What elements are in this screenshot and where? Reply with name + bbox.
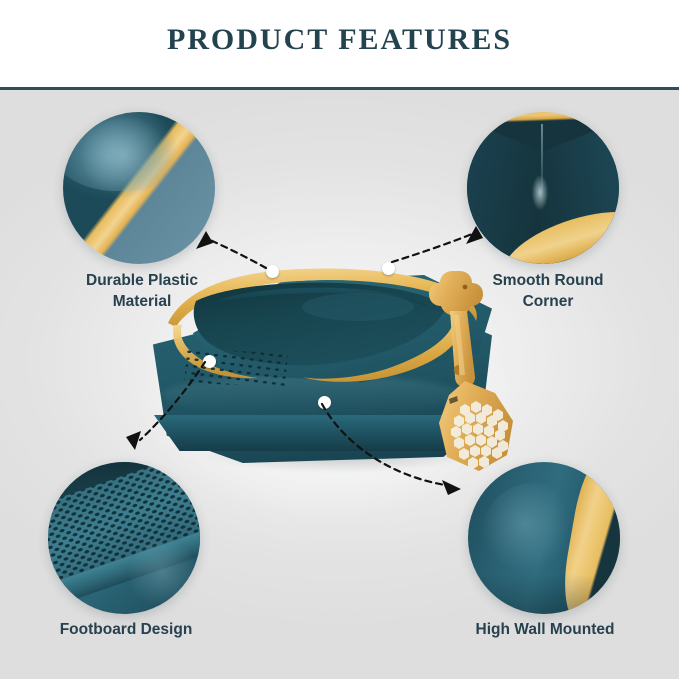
scoop-hook [429, 271, 483, 316]
feature-image-smooth-round-corner [467, 112, 619, 264]
feature-image-durable-plastic-material [63, 112, 215, 264]
product-features-infographic: PRODUCT FEATURES Durable Plastic Materia… [0, 0, 679, 679]
feature-label-line-1: Footboard Design [38, 619, 214, 640]
gloss-highlight-secondary [72, 118, 184, 212]
wall-shadow [468, 574, 620, 614]
feature-label-line-1: High Wall Mounted [452, 619, 638, 640]
connector-dot-high-wall-mounted [318, 396, 331, 409]
page-title: PRODUCT FEATURES [0, 23, 679, 57]
product-image-cat-litter-box [140, 255, 540, 485]
feature-label-high-wall-mounted: High Wall Mounted [452, 619, 638, 640]
honeycomb-litter-scoop [423, 265, 519, 477]
feature-label-footboard-design: Footboard Design [38, 619, 214, 640]
connector-dot-footboard-design [203, 355, 216, 368]
connector-dot-smooth-round-corner [382, 262, 395, 275]
connector-dot-durable-plastic-material [266, 265, 279, 278]
